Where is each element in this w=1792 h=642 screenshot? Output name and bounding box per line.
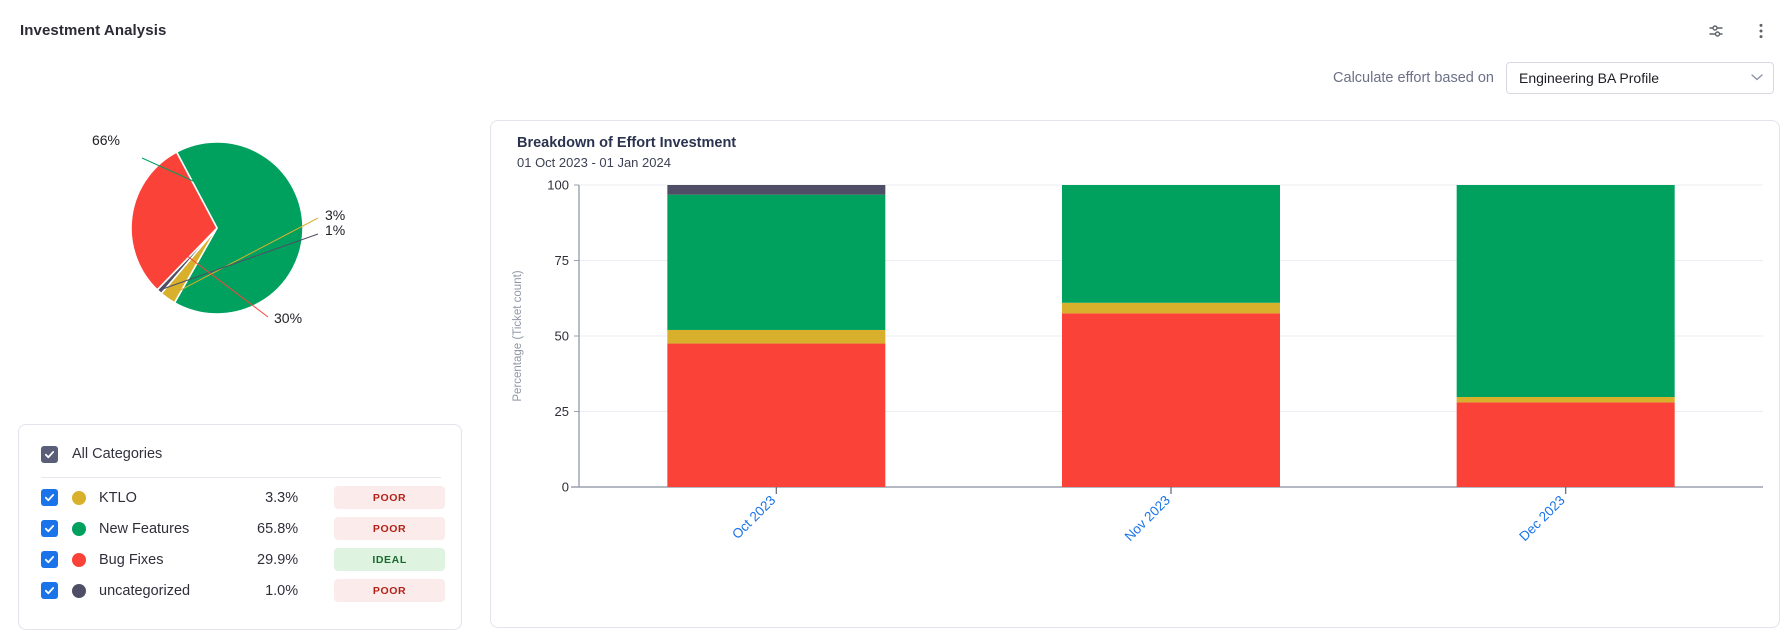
status-badge: IDEAL [334,548,445,571]
chevron-down-icon [1751,73,1763,84]
y-tick-label: 75 [555,253,569,268]
legend-rows: KTLO3.3%POORNew Features65.8%POORBug Fix… [35,482,445,606]
y-tick-label: 25 [555,404,569,419]
bar-segment[interactable] [1457,185,1675,397]
category-percent: 3.3% [240,490,298,506]
all-categories-label: All Categories [72,446,162,462]
y-tick-label: 100 [547,178,569,193]
status-badge: POOR [334,579,445,602]
bar-segment[interactable] [667,185,885,195]
status-badge: POOR [334,486,445,509]
stacked-bar-chart: 0255075100Percentage (Ticket count)Oct 2… [491,121,1781,629]
pie-slice-label: 3% [325,207,345,223]
bar-segment[interactable] [1457,402,1675,487]
effort-basis-label: Calculate effort based on [1333,70,1494,86]
legend-row[interactable]: Bug Fixes29.9%IDEAL [35,544,445,575]
category-color-swatch [72,491,86,505]
effort-basis-value: Engineering BA Profile [1519,70,1659,86]
category-color-swatch [72,522,86,536]
y-tick-label: 50 [555,329,569,344]
page-title: Investment Analysis [20,22,166,39]
category-label: KTLO [99,490,240,506]
bar-segment[interactable] [1062,313,1280,487]
legend-all-categories-row[interactable]: All Categories [35,437,445,471]
legend-divider [41,477,441,478]
header-actions [1704,18,1774,44]
more-vertical-icon[interactable] [1748,18,1774,44]
bar-segment[interactable] [1062,303,1280,314]
effort-basis-select[interactable]: Engineering BA Profile [1506,62,1774,94]
effort-breakdown-card: Breakdown of Effort Investment 01 Oct 20… [490,120,1780,628]
pie-slice-label: 30% [274,310,302,326]
category-legend-card: All Categories KTLO3.3%POORNew Features6… [18,424,462,630]
category-percent: 1.0% [240,583,298,599]
legend-row[interactable]: uncategorized1.0%POOR [35,575,445,606]
category-checkbox[interactable] [41,551,58,568]
x-tick-label[interactable]: Oct 2023 [729,493,778,542]
pie-slice-label: 66% [92,132,120,148]
category-color-swatch [72,584,86,598]
y-axis-title: Percentage (Ticket count) [512,270,524,401]
category-checkbox[interactable] [41,520,58,537]
pie-svg: 66%3%1%30% [10,118,470,368]
bar-segment[interactable] [1457,397,1675,402]
category-label: New Features [99,521,240,537]
legend-row[interactable]: KTLO3.3%POOR [35,482,445,513]
category-checkbox[interactable] [41,489,58,506]
bar-segment[interactable] [667,344,885,487]
effort-distribution-pie-chart: 66%3%1%30% [10,118,470,368]
category-percent: 29.9% [240,552,298,568]
y-tick-label: 0 [562,480,569,495]
sliders-icon[interactable] [1704,18,1730,44]
category-color-swatch [72,553,86,567]
investment-analysis-page: Investment Analysis Calculate effort bas… [0,0,1792,642]
bar-segment[interactable] [667,330,885,344]
category-label: uncategorized [99,583,240,599]
legend-row[interactable]: New Features65.8%POOR [35,513,445,544]
status-badge: POOR [334,517,445,540]
category-checkbox[interactable] [41,582,58,599]
all-categories-checkbox[interactable] [41,446,58,463]
x-tick-label[interactable]: Nov 2023 [1122,493,1173,544]
category-percent: 65.8% [240,521,298,537]
category-label: Bug Fixes [99,552,240,568]
effort-basis-control: Calculate effort based on Engineering BA… [1333,62,1774,94]
pie-slice-label: 1% [325,222,345,238]
bar-segment[interactable] [1062,185,1280,303]
bar-segment[interactable] [667,195,885,330]
x-tick-label[interactable]: Dec 2023 [1516,493,1567,544]
